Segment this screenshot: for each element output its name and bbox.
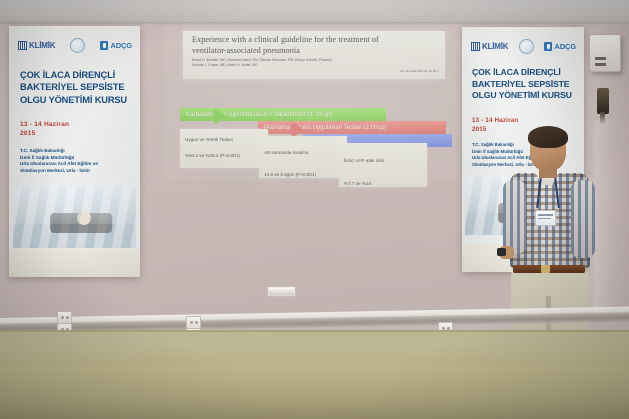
slide-authors: Emad H. Ibrahim, MD; Suzanne Ward, RN; G… bbox=[192, 58, 422, 69]
data-box-1-heading: Uygun ve Yeterli Tedavi bbox=[180, 129, 268, 145]
data-box-2-value: 14.8 ve 8.6gün (P<0.001) bbox=[259, 158, 347, 180]
light-switch-3[interactable] bbox=[286, 288, 294, 295]
slide-title-line1: Experience with a clinical guideline for… bbox=[192, 35, 438, 46]
arrow-head-icon bbox=[213, 108, 226, 126]
projected-slide: Experience with a clinical guideline for… bbox=[163, 26, 463, 181]
slide-title: Experience with a clinical guideline for… bbox=[192, 35, 438, 56]
arrow-label-group2: Planlama Öncesi Uygulanan Tedavi (2.Grup… bbox=[264, 124, 386, 131]
presentation-room-photo: Experience with a clinical guideline for… bbox=[0, 0, 629, 419]
presenter-arm-left bbox=[503, 180, 526, 254]
control-box-vent-2 bbox=[595, 63, 606, 66]
control-box-vent-1 bbox=[595, 57, 606, 60]
arrow-body: Karbapenem + Siprofloksasin + Vankomisin… bbox=[180, 108, 386, 121]
poster-shading bbox=[9, 26, 140, 277]
data-box-1-value: %94.2 ve %48.2 (P<0.001) bbox=[180, 145, 268, 161]
slide-data-box-2: AB süresinde kısalma 14.8 ve 8.6gün (P<0… bbox=[259, 136, 347, 178]
arrow-label-group1: Karbapenem + Siprofloksasin + Vankomisin… bbox=[186, 111, 332, 118]
slide-title-box: Experience with a clinical guideline for… bbox=[183, 31, 445, 79]
floor-reflection bbox=[0, 332, 629, 366]
ceiling bbox=[0, 0, 629, 24]
wall-control-box[interactable] bbox=[589, 34, 621, 72]
presenter-hair bbox=[528, 126, 568, 148]
slide-title-line2: ventilator-associated pneumonia bbox=[192, 46, 438, 57]
presenter-lanyard bbox=[537, 178, 559, 212]
presenter-badge bbox=[535, 210, 556, 226]
arrow-body: Planlama Öncesi Uygulanan Tedavi (2.Grup… bbox=[258, 121, 446, 134]
slide-citation: Crit Care Med 2001 Vol. 29, No. 6 bbox=[400, 70, 439, 73]
wall-mounted-fixture bbox=[597, 88, 609, 114]
slide-arrow-group1: Karbapenem + Siprofloksasin + Vankomisin… bbox=[180, 108, 386, 121]
presenter-belt-buckle bbox=[541, 265, 550, 273]
light-switch-plate[interactable] bbox=[267, 286, 296, 297]
data-box-2-heading: AB süresinde kısalma bbox=[259, 136, 347, 158]
light-switch-2[interactable] bbox=[278, 288, 286, 295]
slide-data-box-1: Uygun ve Yeterli Tedavi %94.2 ve %48.2 (… bbox=[180, 129, 268, 168]
light-switch-1[interactable] bbox=[269, 288, 277, 295]
data-box-3-heading: İkinci VAP atak riski bbox=[339, 143, 427, 166]
slide-arrow-group2: Planlama Öncesi Uygulanan Tedavi (2.Grup… bbox=[258, 121, 446, 134]
slide-authors-line2: Victoria J. Fraser, MD; Marin H. Kollef,… bbox=[192, 63, 422, 68]
presentation-clicker bbox=[497, 248, 506, 256]
data-box-3-value: %7.7 ve %24 bbox=[339, 166, 427, 189]
slide-data-box-3: İkinci VAP atak riski %7.7 ve %24 bbox=[339, 143, 427, 187]
presenter-arm-right bbox=[571, 180, 595, 258]
poster-left: KLİMİK ADÇG ÇOK İLACA DİRENÇLİ BAKTERİYE… bbox=[9, 26, 140, 277]
presenter-ear bbox=[559, 147, 566, 156]
